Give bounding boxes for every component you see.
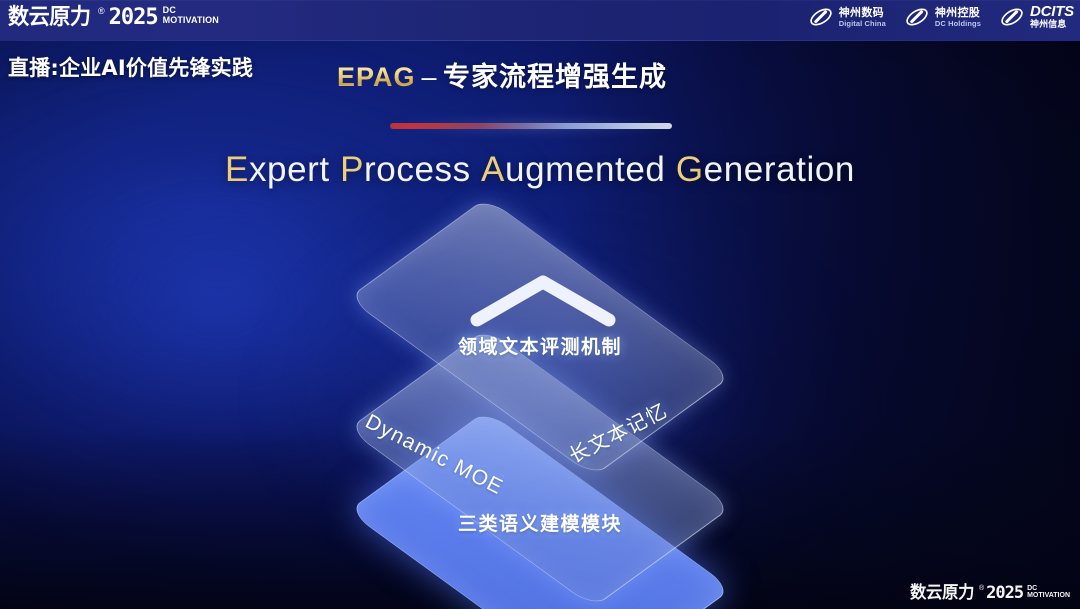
swirl-logo-icon	[808, 4, 834, 30]
partner-name-cn: 神州控股	[935, 7, 981, 18]
title-dash: –	[416, 62, 444, 92]
gradient-divider	[390, 123, 672, 129]
subtitle-cap-a: A	[481, 150, 505, 189]
subtitle-cap-e: E	[225, 150, 249, 189]
watermark-motivation-text: MOTIVATION	[1027, 592, 1070, 600]
partner-text: 神州控股 DC Holdings	[935, 7, 981, 28]
watermark-dc-motivation: DC MOTIVATION	[1027, 585, 1070, 600]
watermark-year: 2025	[986, 584, 1023, 603]
partner-logo-group: 神州数码 Digital China 神州控股 DC Holdings	[808, 4, 1074, 30]
watermark-name-cn: 数云原力	[910, 584, 974, 603]
partner-name-cn: DCITS	[1030, 4, 1074, 19]
brand-logo: 数云原力 ® 2025 DC MOTIVATION	[8, 5, 219, 30]
subtitle-rest-augmented: ugmented	[505, 150, 665, 189]
partner-name-en: DC Holdings	[935, 20, 981, 28]
brand-year: 2025	[109, 5, 158, 30]
subtitle-cap-g: G	[676, 150, 704, 189]
watermark-logo: 数云原力 ® 2025 DC MOTIVATION	[910, 584, 1070, 603]
live-stream-label: 直播:企业AI价值先锋实践	[8, 52, 253, 82]
title-chinese: 专家流程增强生成	[443, 62, 667, 93]
swirl-logo-icon	[999, 4, 1025, 30]
subtitle: Expert Process Augmented Generation	[0, 150, 1080, 190]
partner-logo-digital-china: 神州数码 Digital China	[808, 4, 886, 30]
subtitle-cap-p: P	[340, 150, 364, 189]
brand-dc-motivation: DC MOTIVATION	[163, 6, 219, 25]
diagram-label-bottom: 三类语义建模模块	[0, 509, 1080, 536]
brand-name-cn: 数云原力	[8, 5, 91, 30]
partner-name-en: Digital China	[839, 20, 886, 28]
partner-text: 神州数码 Digital China	[839, 7, 886, 28]
brand-motivation-text: MOTIVATION	[163, 15, 219, 25]
swirl-logo-icon	[904, 4, 930, 30]
page-title: EPAG–专家流程增强生成	[337, 55, 667, 94]
partner-text: DCITS 神州信息	[1030, 4, 1074, 30]
watermark-registered-mark: ®	[979, 584, 984, 593]
partner-name-cn: 神州数码	[839, 7, 886, 18]
partner-logo-dcits: DCITS 神州信息	[999, 4, 1074, 30]
brand-dc-text: DC	[163, 6, 219, 15]
partner-logo-dc-holdings: 神州控股 DC Holdings	[904, 4, 981, 30]
diagram-label-top: 领域文本评测机制	[0, 332, 1080, 359]
chevron-up-icon	[469, 272, 617, 328]
subtitle-rest-process: rocess	[364, 150, 471, 189]
title-acronym: EPAG	[337, 62, 416, 92]
brand-registered-mark: ®	[98, 5, 105, 17]
watermark-dc-text: DC	[1027, 585, 1070, 592]
subtitle-rest-expert: xpert	[249, 150, 330, 189]
subtitle-rest-generation: eneration	[704, 150, 855, 189]
slide-canvas: 数云原力 ® 2025 DC MOTIVATION 神州数码 Digital C…	[0, 0, 1080, 609]
partner-name-en: 神州信息	[1030, 21, 1074, 30]
